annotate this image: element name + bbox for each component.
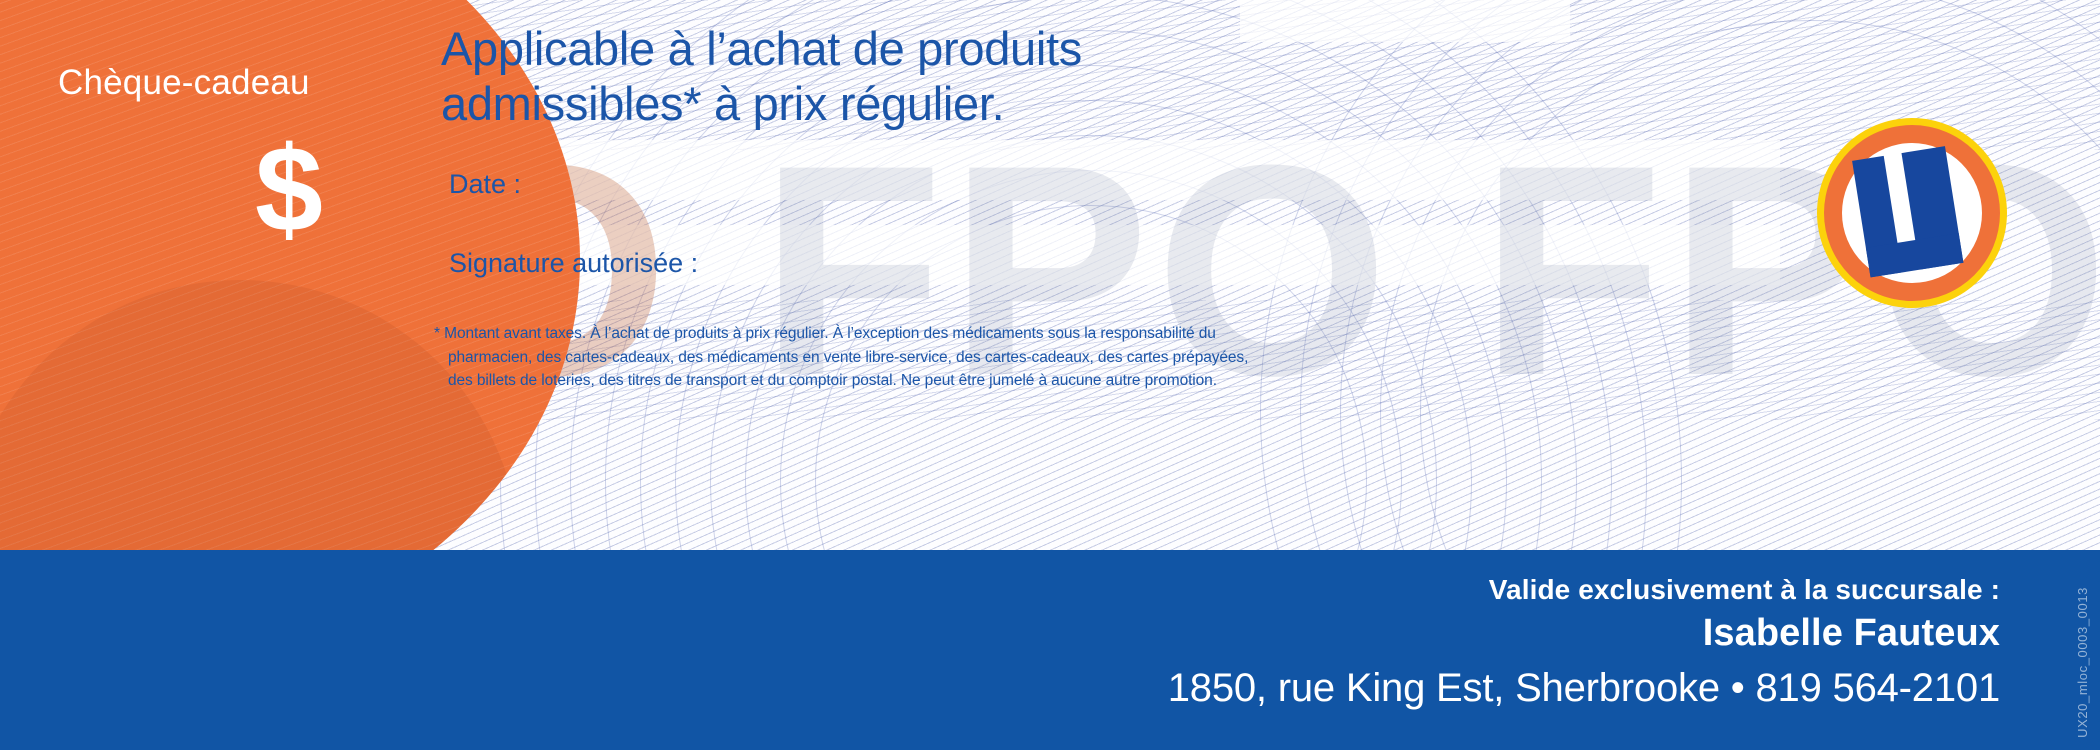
logo-letter-u-icon (1852, 145, 1974, 282)
branch-footer: Valide exclusivement à la succursale : I… (0, 550, 2100, 750)
headline-line-1: Applicable à l’achat de produits (441, 22, 1641, 77)
artwork-reference-code: UX20_mloc_0003_0013 (2075, 587, 2090, 738)
valid-at-branch-label: Valide exclusivement à la succursale : (1489, 574, 2000, 606)
fine-print-line-2: pharmacien, des cartes-cadeaux, des médi… (434, 346, 1284, 370)
date-field-label[interactable]: Date : (449, 169, 521, 200)
dollar-sign: $ (255, 128, 323, 250)
gift-certificate: FPO FPO FPO Chèque-cadeau $ $ Applicable… (0, 0, 2100, 750)
fpo-watermark: FPO (1480, 120, 2100, 420)
branch-address: 1850, rue King Est, Sherbrooke • 819 564… (1168, 666, 2000, 711)
field-wash-date (440, 140, 1780, 200)
signature-field-label[interactable]: Signature autorisée : (449, 248, 698, 279)
headline-line-2: admissibles* à prix régulier. (441, 77, 1641, 132)
branch-name: Isabelle Fauteux (1703, 612, 2000, 655)
headline: Applicable à l’achat de produits admissi… (441, 22, 1641, 132)
fine-print-line-1: * Montant avant taxes. À l’achat de prod… (434, 322, 1284, 346)
fine-print: * Montant avant taxes. À l’achat de prod… (434, 322, 1284, 393)
uniprix-u-logo (1817, 118, 2007, 308)
fine-print-line-3: des billets de loteries, des titres de t… (434, 369, 1284, 393)
cheque-cadeau-label: Chèque-cadeau (58, 63, 310, 103)
